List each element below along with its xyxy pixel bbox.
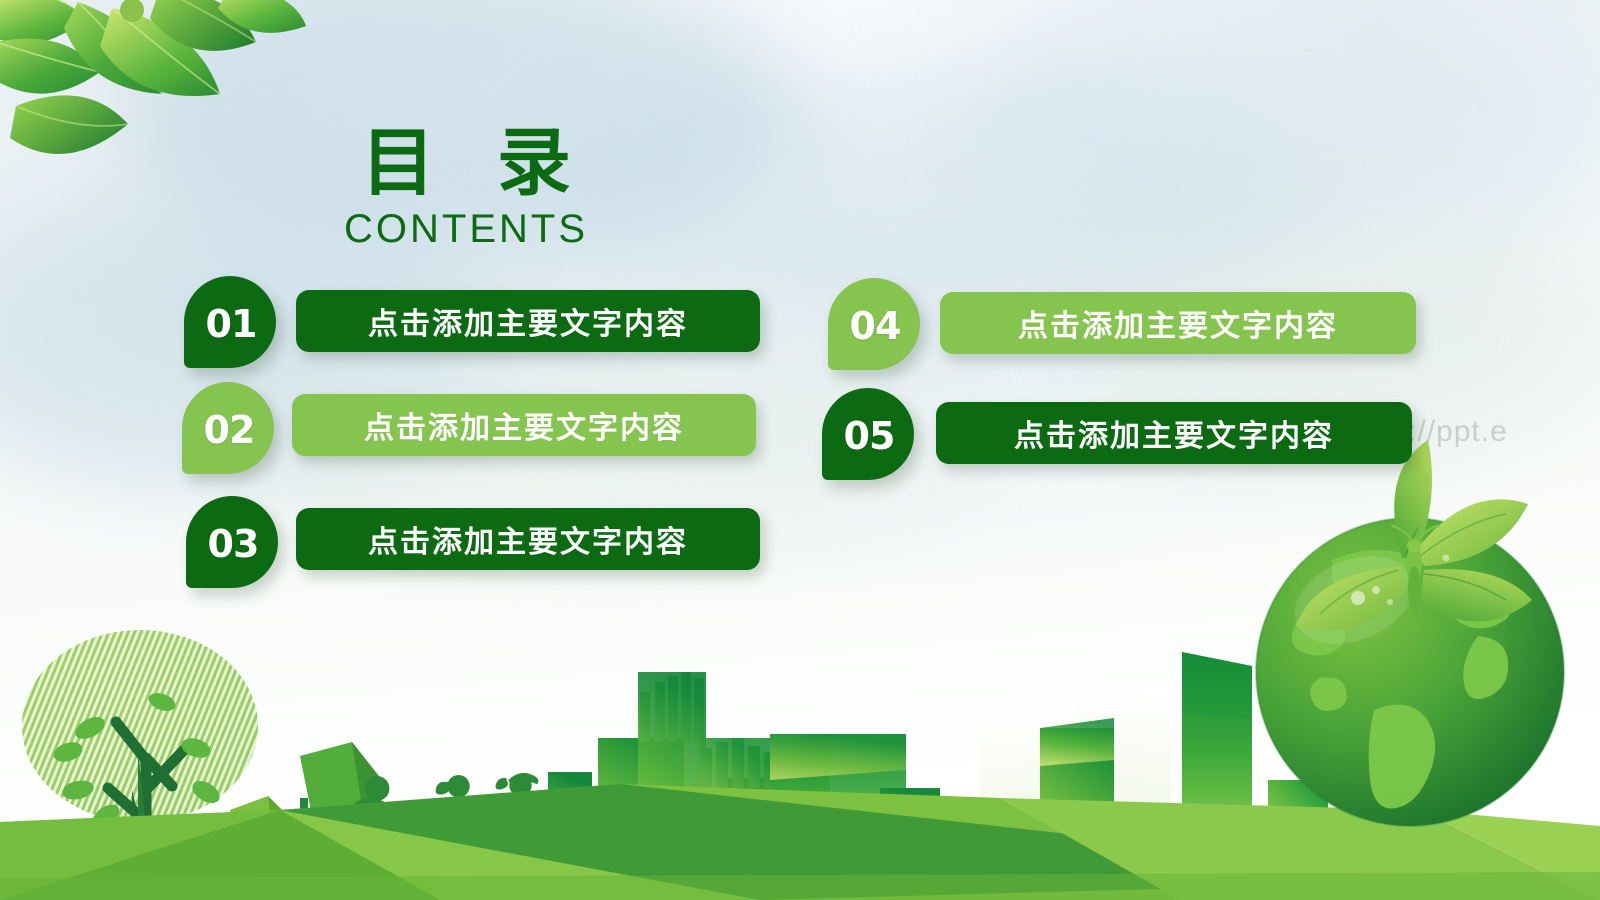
item-number-05: 05 [844, 417, 895, 455]
item-label-01: 点击添加主要文字内容 [368, 299, 688, 343]
item-bar-02[interactable]: 点击添加主要文字内容 [292, 394, 756, 456]
item-number-badge-01[interactable]: 01 [184, 276, 276, 368]
item-number-01: 01 [206, 305, 257, 343]
item-bar-01[interactable]: 点击添加主要文字内容 [296, 290, 760, 352]
page-title-en: CONTENTS [256, 206, 676, 252]
item-bar-05[interactable]: 点击添加主要文字内容 [936, 402, 1412, 464]
page-title-cn: 目 录 [256, 124, 676, 202]
item-label-02: 点击添加主要文字内容 [364, 403, 684, 447]
item-label-04: 点击添加主要文字内容 [1018, 301, 1338, 345]
item-label-03: 点击添加主要文字内容 [368, 517, 688, 561]
item-number-badge-04[interactable]: 04 [828, 278, 920, 370]
item-number-02: 02 [204, 411, 255, 449]
item-number-badge-03[interactable]: 03 [186, 496, 278, 588]
watercolor-wash [980, 0, 1600, 250]
item-number-badge-05[interactable]: 05 [822, 388, 914, 480]
item-bar-04[interactable]: 点击添加主要文字内容 [940, 292, 1416, 354]
item-number-03: 03 [208, 525, 259, 563]
item-number-04: 04 [850, 307, 901, 345]
item-label-05: 点击添加主要文字内容 [1014, 411, 1334, 455]
earth-globe-illustration [1214, 410, 1600, 840]
slide-canvas: 目 录 CONTENTS 01 点击添加主要文字内容 02 点击添加主要文字内容… [0, 0, 1600, 900]
item-bar-03[interactable]: 点击添加主要文字内容 [296, 508, 760, 570]
page-header: 目 录 CONTENTS [256, 124, 676, 252]
item-number-badge-02[interactable]: 02 [182, 382, 274, 474]
